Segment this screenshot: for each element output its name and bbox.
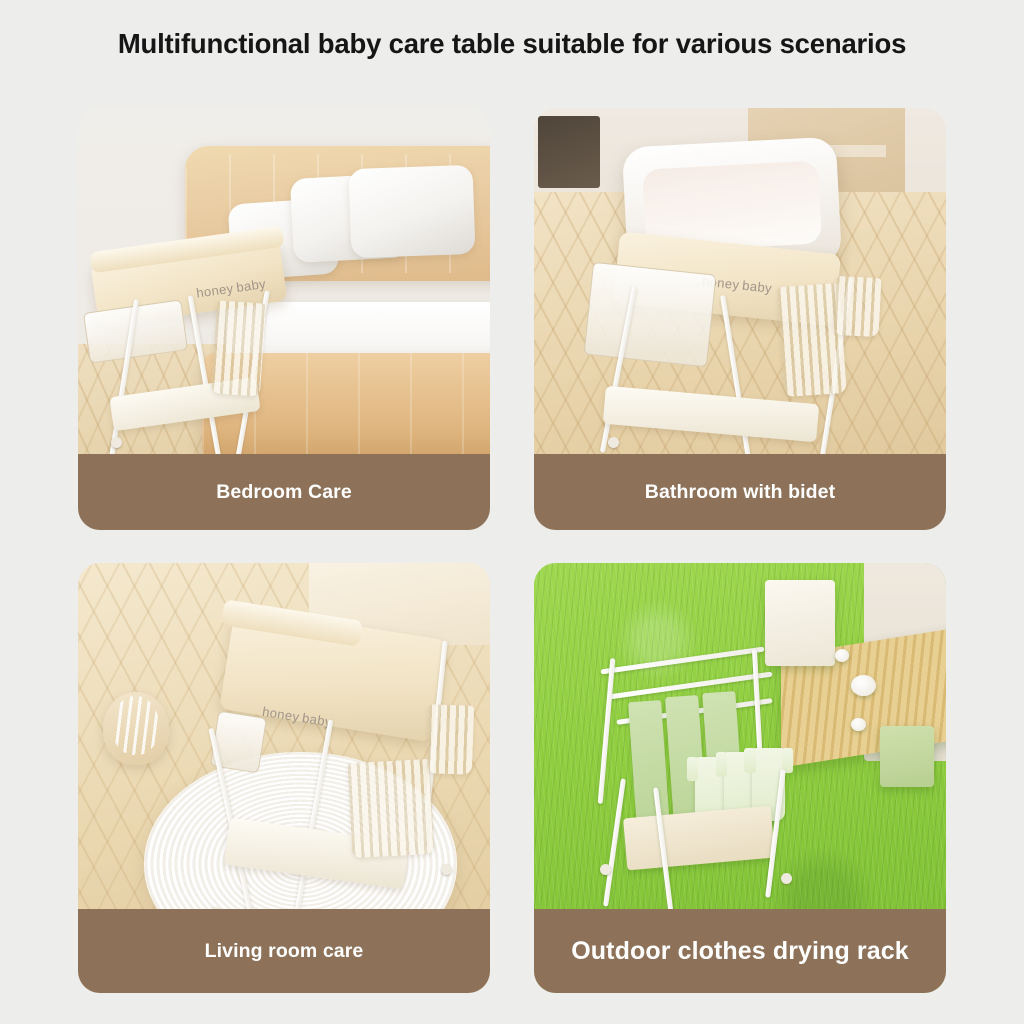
dark-panel: [538, 116, 600, 188]
caption-label: Living room care: [205, 940, 364, 963]
scenario-card-living-room[interactable]: honeybaby Living room care: [78, 563, 490, 993]
caster-wheel: [600, 864, 611, 875]
camping-stool: [880, 726, 934, 786]
caption-bar-living-room: Living room care: [78, 909, 490, 993]
bowl: [851, 675, 876, 697]
hanging-cloth: [427, 704, 475, 774]
caption-bar-outdoor: Outdoor clothes drying rack: [534, 909, 946, 993]
caption-bar-bedroom: Bedroom Care: [78, 454, 490, 530]
scenario-grid: honeybaby Bedroom Care honeybaby: [78, 108, 946, 994]
scenario-card-bedroom[interactable]: honeybaby Bedroom Care: [78, 108, 490, 530]
hanging-cloth: [833, 276, 881, 337]
camping-chair: [765, 580, 835, 666]
hanging-cloth: [211, 300, 267, 396]
caption-label: Bedroom Care: [216, 481, 352, 504]
scenario-card-bathroom[interactable]: honeybaby Bathroom with bidet: [534, 108, 946, 530]
pouf-seat: [103, 692, 169, 765]
brand-suffix: baby: [741, 278, 772, 296]
caption-label: Bathroom with bidet: [645, 481, 835, 504]
cup: [835, 649, 849, 662]
caption-label: Outdoor clothes drying rack: [571, 937, 908, 966]
caption-bar-bathroom: Bathroom with bidet: [534, 454, 946, 530]
storage-basket: [583, 262, 716, 367]
caster-wheel: [781, 873, 792, 884]
caster-wheel: [441, 864, 452, 875]
page-title: Multifunctional baby care table suitable…: [0, 28, 1024, 60]
cup: [851, 718, 865, 731]
scenario-card-outdoor[interactable]: Outdoor clothes drying rack: [534, 563, 946, 993]
hanging-cloth: [347, 759, 434, 858]
pillow: [348, 165, 475, 258]
